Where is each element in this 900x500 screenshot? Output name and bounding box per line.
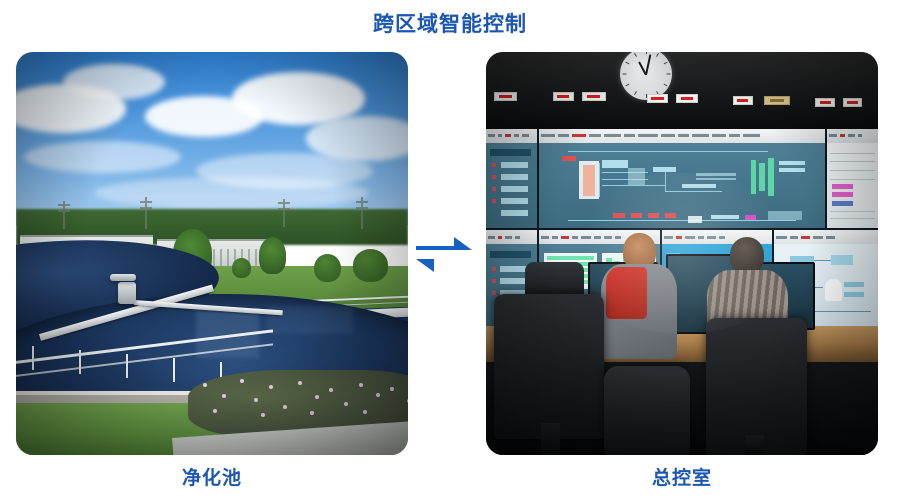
video-wall-screen[interactable] xyxy=(486,129,537,229)
wall-placard xyxy=(494,92,518,101)
screen-canvas xyxy=(827,143,878,229)
figure-purification-pool[interactable] xyxy=(16,52,408,455)
wall-placard xyxy=(733,96,753,105)
wall-placard xyxy=(764,96,789,105)
caption-main-control-room: 总控室 xyxy=(486,463,878,490)
wall-placard xyxy=(676,94,698,103)
shrub xyxy=(232,258,252,278)
screen-titlebar xyxy=(486,230,537,244)
operator-left xyxy=(596,233,682,386)
cloud xyxy=(24,141,181,173)
power-pylon xyxy=(145,197,147,229)
wall-placard xyxy=(815,98,835,107)
screen-titlebar xyxy=(539,129,825,143)
shrub xyxy=(314,254,341,282)
video-wall-screen[interactable] xyxy=(827,129,878,229)
chair-post xyxy=(541,423,561,455)
handrail-post xyxy=(126,354,128,378)
control-room-photo xyxy=(486,52,878,455)
handrail-post xyxy=(32,346,34,370)
back-wall xyxy=(486,52,878,129)
handrail-post xyxy=(173,358,175,382)
cloud xyxy=(94,177,368,209)
screen-titlebar xyxy=(486,129,537,143)
clarifier-center-hub xyxy=(118,282,136,304)
clarifier-center-hub xyxy=(110,274,136,281)
operator-jacket xyxy=(606,267,647,319)
screen-canvas xyxy=(486,143,537,229)
page-title: 跨区域智能控制 xyxy=(0,8,900,38)
figure-main-control-room[interactable] xyxy=(486,52,878,455)
wall-placard xyxy=(553,92,575,101)
wall-placard xyxy=(582,92,606,101)
chair-post xyxy=(745,435,765,455)
office-chair xyxy=(494,294,604,439)
handrail-post xyxy=(79,350,81,374)
wastewater-plant-photo xyxy=(16,52,408,455)
power-pylon xyxy=(63,201,65,229)
page-root: 跨区域智能控制 xyxy=(0,0,900,500)
power-pylon xyxy=(283,199,285,227)
cloud xyxy=(63,64,165,100)
screen-titlebar xyxy=(827,129,878,143)
wall-placard xyxy=(647,94,669,103)
wall-placard xyxy=(843,98,863,107)
office-chair xyxy=(604,366,690,455)
operator-head xyxy=(730,237,764,274)
video-wall-screen[interactable] xyxy=(539,129,825,229)
screen-canvas xyxy=(539,143,825,229)
shrub xyxy=(353,249,388,281)
caption-purification-pool: 净化池 xyxy=(16,463,408,490)
bidirectional-arrow-icon xyxy=(414,232,474,278)
tree xyxy=(259,237,286,273)
power-pylon xyxy=(361,197,363,229)
